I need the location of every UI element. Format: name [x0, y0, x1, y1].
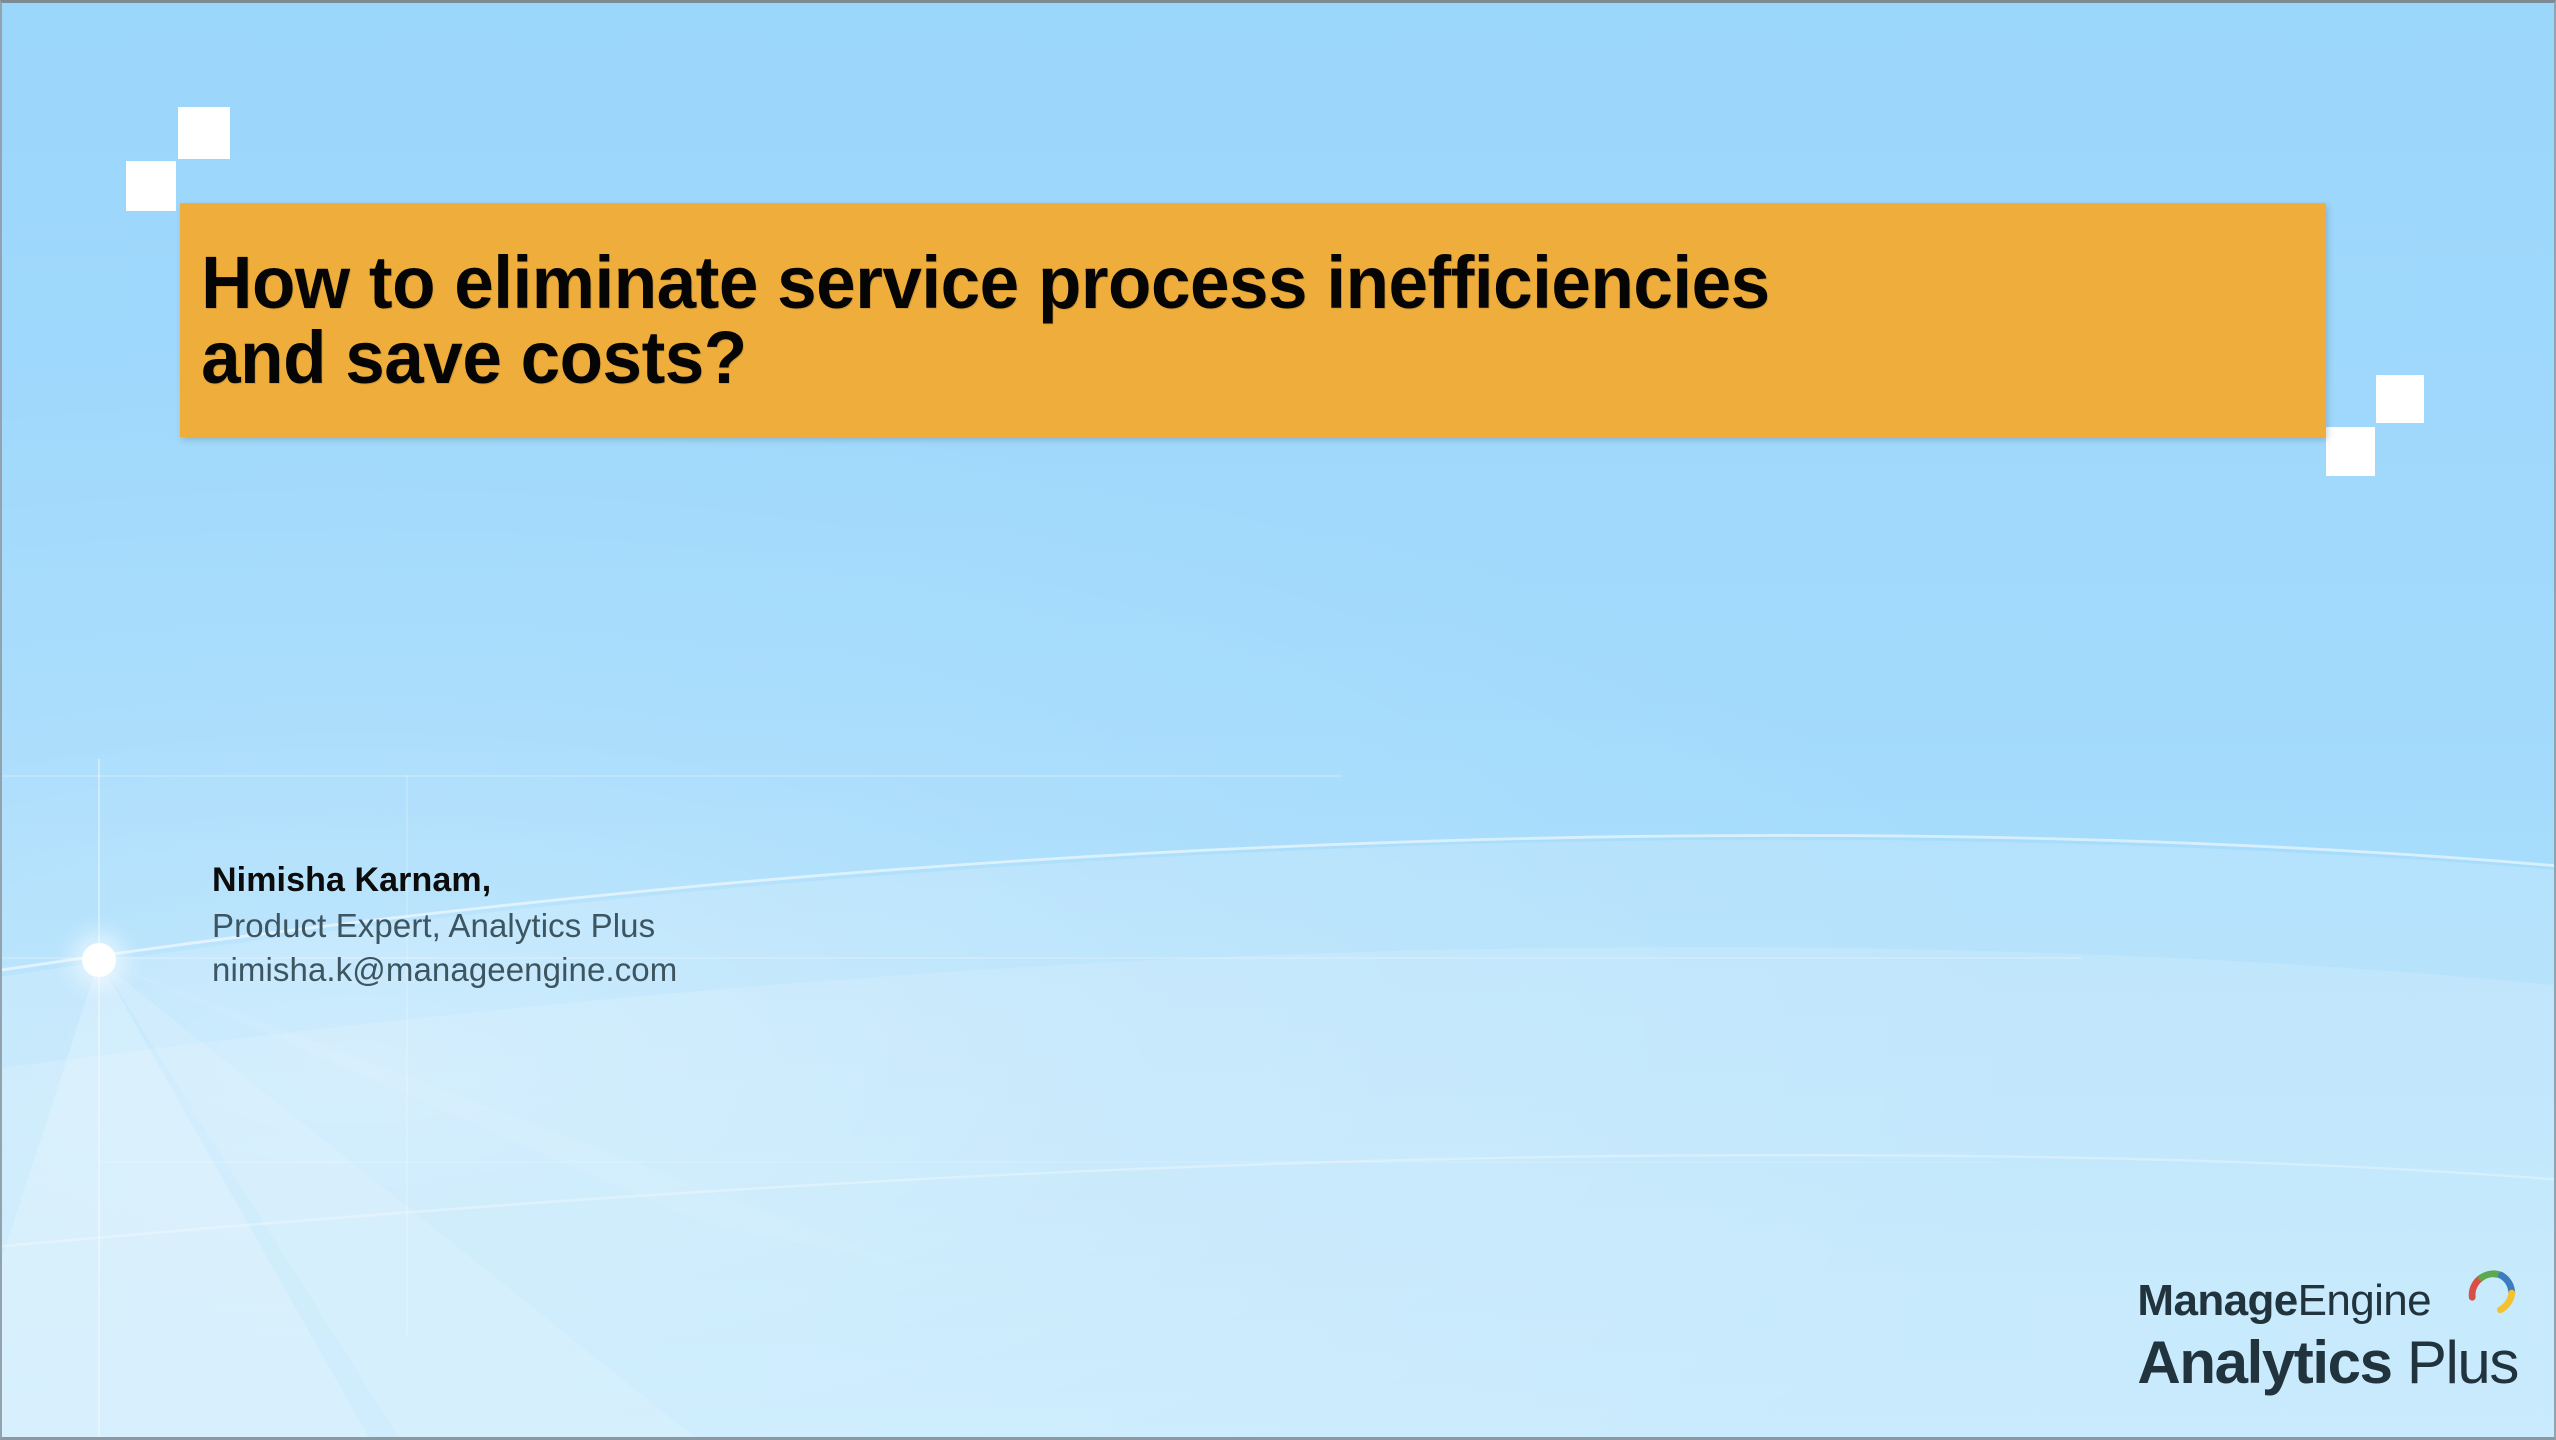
decor-square-top-left-lower: [126, 161, 176, 211]
decor-square-top-left-upper: [178, 107, 230, 159]
speaker-email: nimisha.k@manageengine.com: [212, 948, 677, 992]
decor-square-top-right-lower: [2326, 427, 2375, 476]
title-banner: How to eliminate service process ineffic…: [180, 203, 2326, 437]
page-title: How to eliminate service process ineffic…: [180, 245, 1791, 396]
logo-brand-bold: Manage: [2137, 1276, 2297, 1325]
logo-product-bold: Analytics: [2137, 1329, 2391, 1396]
manageengine-swoosh-icon: [2466, 1265, 2518, 1317]
presentation-slide: How to eliminate service process ineffic…: [0, 0, 2556, 1440]
logo-product-light: Plus: [2392, 1329, 2518, 1396]
speaker-info-block: Nimisha Karnam, Product Expert, Analytic…: [212, 858, 677, 992]
logo-product-line: Analytics Plus: [2137, 1333, 2518, 1393]
manageengine-analytics-plus-logo: ManageEngine Analytics Plus: [2137, 1279, 2518, 1393]
logo-brand-line: ManageEngine: [2137, 1279, 2518, 1323]
logo-brand-light: Engine: [2298, 1276, 2431, 1325]
decor-square-top-right-upper: [2376, 375, 2424, 423]
speaker-role: Product Expert, Analytics Plus: [212, 904, 677, 948]
light-source-dot: [82, 943, 116, 977]
speaker-name: Nimisha Karnam,: [212, 858, 677, 904]
